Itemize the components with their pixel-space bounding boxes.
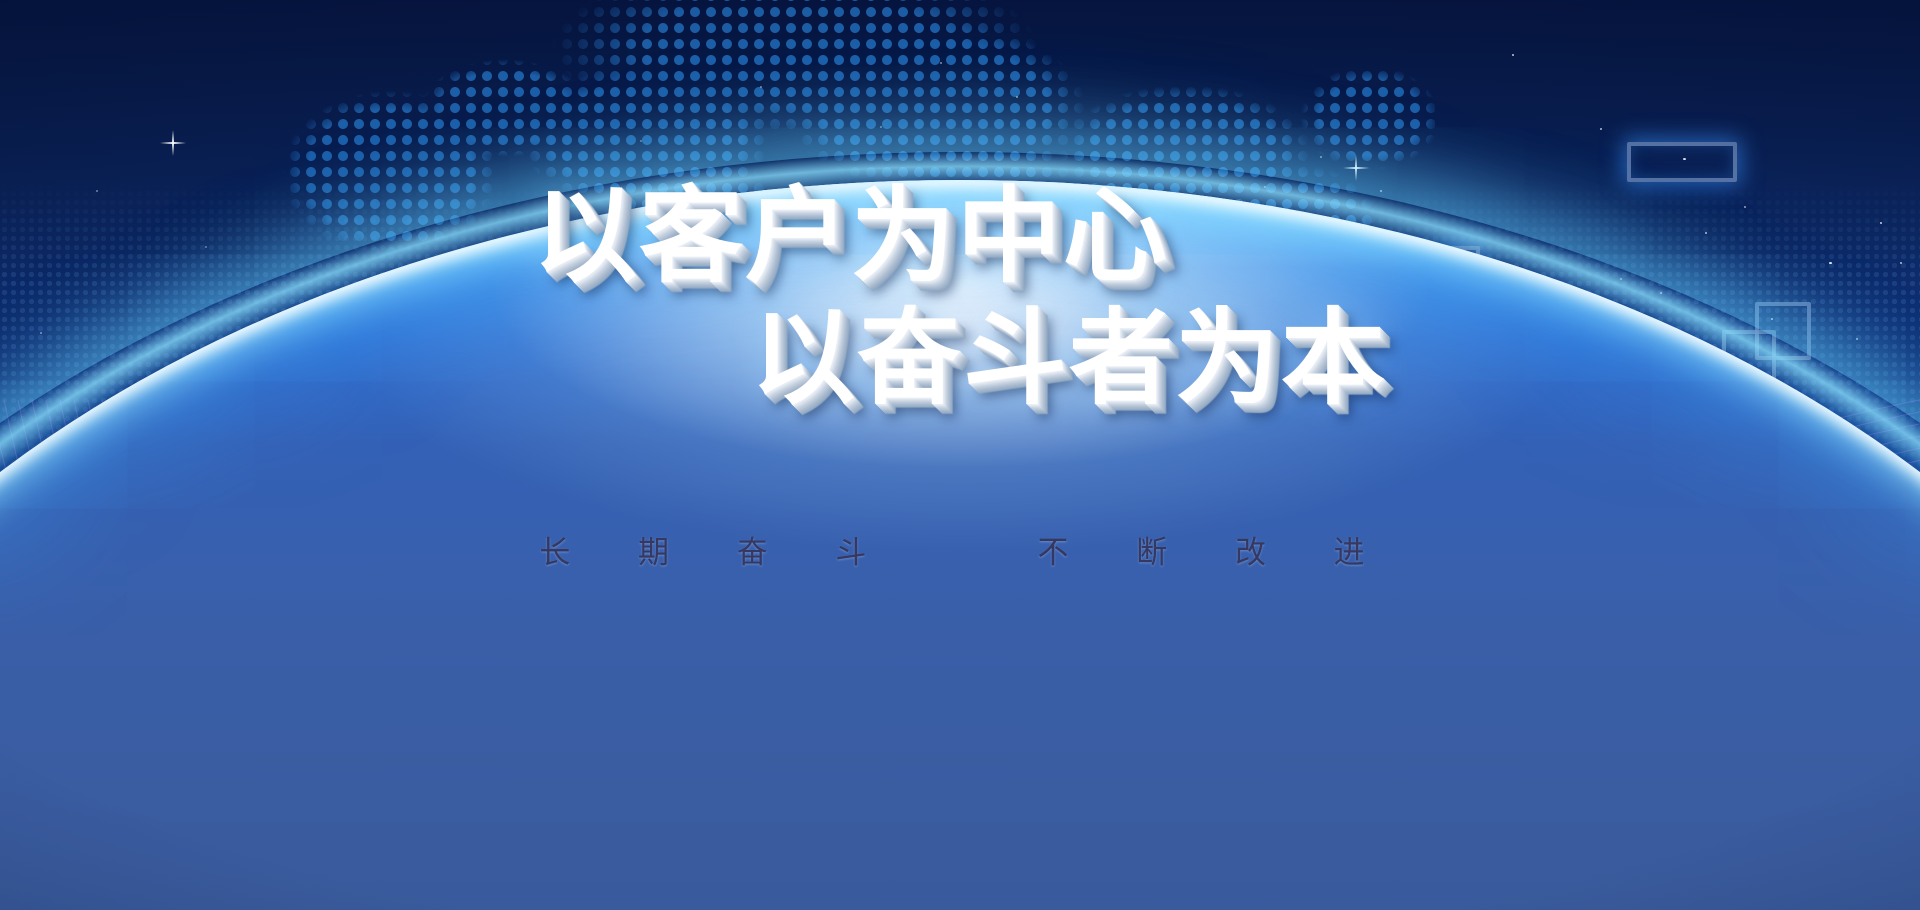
poster-canvas: 长 期 奋 斗 不 断 改 进 以客户为中心 以奋斗者为本 [0,0,1920,910]
vignette-overlay [0,0,1920,910]
